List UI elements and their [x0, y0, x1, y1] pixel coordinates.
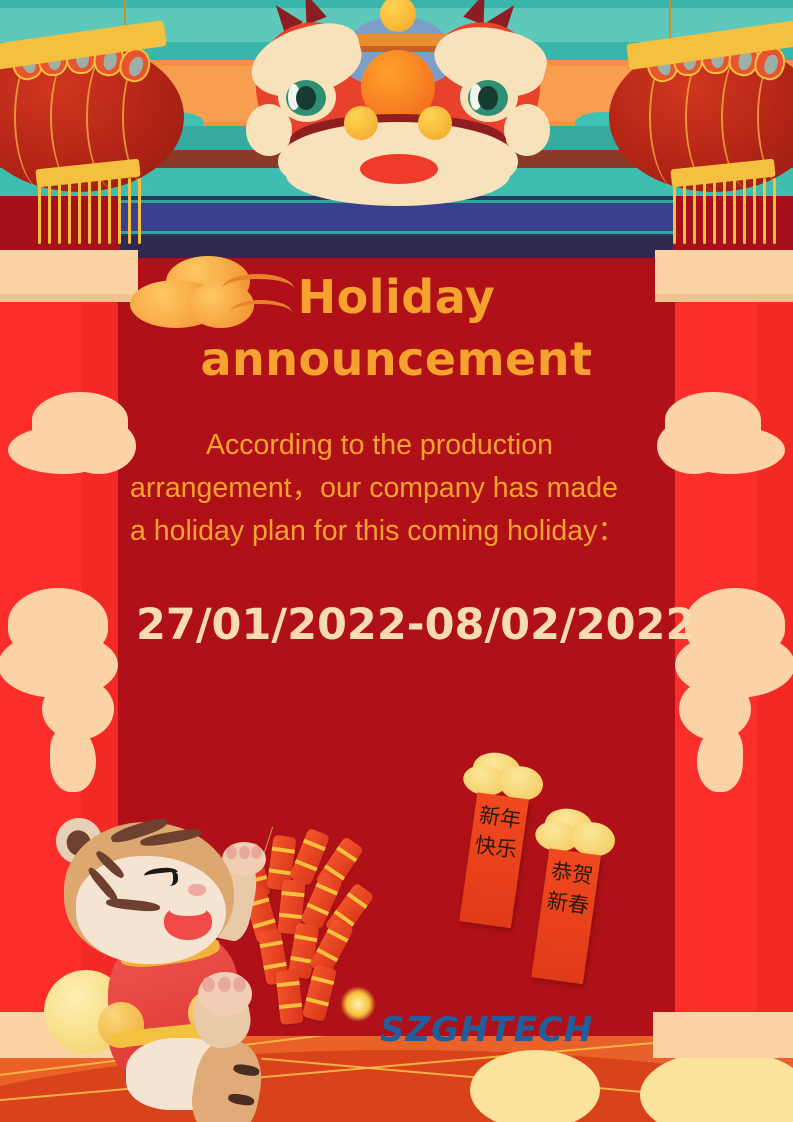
lion-dance-head-icon [252, 0, 544, 204]
right-lantern [609, 14, 793, 204]
cream-cloud [8, 392, 138, 484]
left-lantern [0, 14, 184, 204]
right-pillar-base [653, 1012, 793, 1058]
lantern-tassel [38, 178, 142, 248]
body-line-2: arrangement，our company has made [130, 467, 690, 510]
lion-mouth [360, 154, 438, 184]
new-year-banner-2: 恭贺新春 [550, 842, 601, 849]
title-line-1: Holiday [110, 266, 683, 328]
holiday-date-range: 27/01/2022-08/02/2022 [136, 600, 696, 650]
page-title: Holiday announcement [110, 266, 683, 390]
tiger-nose [188, 884, 206, 896]
body-line-1: According to the production [130, 424, 690, 467]
holiday-announcement-poster: Holiday announcement According to the pr… [0, 0, 793, 1122]
new-year-banner-1: 新年快乐 [478, 786, 529, 793]
title-line-2: announcement [110, 328, 683, 390]
spark-glow [340, 986, 376, 1022]
body-line-3: a holiday plan for this coming holiday： [130, 510, 690, 553]
tiger-paw [198, 972, 252, 1016]
company-logo: SZGHTECH [380, 1010, 593, 1050]
yellow-cloud [470, 1050, 600, 1122]
cream-cloud [0, 588, 138, 788]
announcement-body: According to the production arrangement，… [130, 424, 690, 553]
tiger-mouth [164, 906, 212, 940]
tiger-mascot-icon [36, 812, 316, 1112]
lantern-tassel [673, 178, 777, 248]
